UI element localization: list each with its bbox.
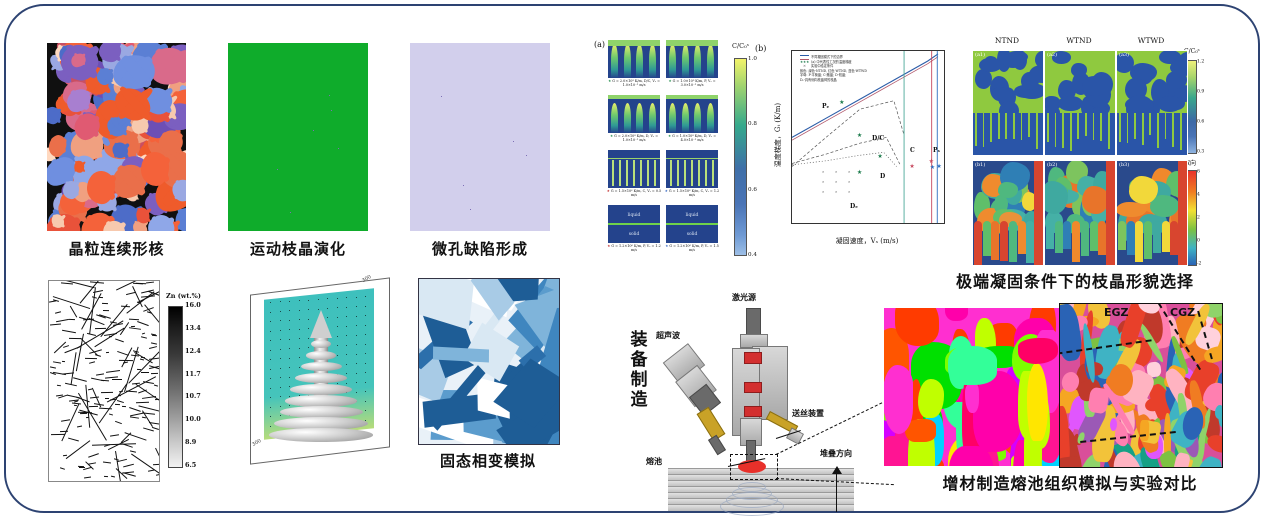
columnar-finger [998, 113, 1000, 139]
ebsd-grain [1214, 404, 1223, 419]
vector-dot [356, 316, 357, 317]
vector-dot [346, 297, 347, 298]
side-branch [57, 385, 61, 386]
vector-dot [289, 320, 290, 321]
simulation-grid: NTND WTND WTWD C/C₀ˢ 取向 (a1)(a2)(a3)(b1)… [972, 48, 1194, 268]
sim-cell-tag-4: (b2) [1047, 162, 1057, 168]
vector-dot [346, 345, 347, 346]
laser-deposition-diagram: 激光源超声波送丝装置熔池堆叠方向 [620, 290, 910, 490]
side-branch [109, 335, 112, 336]
data-point-ntnd-3: ★ [857, 170, 862, 176]
plot-curves [792, 51, 944, 223]
columnar-grain [1162, 221, 1170, 252]
vector-dot [308, 347, 309, 348]
side-branch [122, 406, 126, 407]
micropore-speck [470, 209, 471, 210]
vector-dot [365, 296, 366, 297]
dendrite-finger [636, 103, 643, 133]
micropore-speck [513, 141, 514, 142]
vector-dot [299, 357, 300, 358]
side-branch [84, 477, 91, 479]
caption-dendrite-selection: 极端凝固条件下的枝晶形貌选择 [900, 268, 1250, 292]
vector-dot [289, 329, 290, 330]
vector-dot [346, 326, 347, 327]
dendrite-finger [694, 103, 701, 133]
side-branch [152, 426, 159, 429]
dendrite-finger [611, 103, 618, 133]
dendrite-boundary [66, 440, 91, 459]
side-branch [141, 372, 149, 373]
vector-dot [280, 301, 281, 302]
vector-dot [356, 325, 357, 326]
vector-dot [346, 354, 347, 355]
ultrasonic-ripple [720, 497, 784, 516]
vector-dot [365, 363, 366, 364]
vector-dot [299, 319, 300, 320]
vector-dot [280, 377, 281, 378]
cell-stripe [626, 160, 628, 186]
phase-field-tile-2 [608, 95, 660, 133]
phase-label-solid: solid [666, 232, 718, 237]
side-branch [141, 336, 147, 338]
sim-cell-a2: (a2) [1044, 50, 1116, 156]
micropore-speck [329, 95, 330, 96]
columnar-grain [1153, 221, 1161, 253]
vector-dot [346, 383, 347, 384]
side-branch [50, 323, 61, 325]
cell-stripe [684, 160, 686, 186]
experiment-marker: × [822, 169, 824, 174]
dendrite-finger [707, 44, 714, 78]
side-branch [131, 354, 139, 356]
vector-dot [365, 306, 366, 307]
series-constitutional-undercooling-boundary [792, 101, 904, 167]
panel-b: (b) 不同凝固模式下的边界★★★(a) 中代表性工况的温度梯度×实验中给定条件… [755, 40, 970, 265]
grain-cell [1158, 96, 1182, 112]
side-branch [112, 379, 122, 380]
edge-grain [1034, 161, 1043, 265]
zone-label-2: C [910, 147, 915, 154]
conc-tick-3: 0.3 [1197, 150, 1204, 155]
label-laser-source: 激光源 [732, 292, 756, 303]
zone-label-5: Dₑ [850, 203, 858, 210]
tile-marker-icon: ★ [607, 189, 611, 193]
side-branch [129, 328, 141, 330]
micropore-speck [331, 110, 332, 111]
experiment-marker: × [848, 189, 850, 194]
conc-tick-0: 1.2 [1197, 60, 1204, 65]
zn-colorbar-title: Zn (wt.%) [166, 292, 201, 300]
ebsd-grain [884, 365, 913, 434]
column-header-wtnd: WTND [1044, 36, 1114, 45]
side-branch [102, 461, 110, 463]
side-branch [140, 359, 144, 361]
sim-cell-b1: (b1) [972, 160, 1044, 266]
dendrite-boundary [70, 306, 77, 318]
side-branch [88, 462, 96, 464]
grain-cell [1071, 63, 1086, 77]
dendrite-finger [682, 103, 689, 133]
vector-dot [356, 354, 357, 355]
vector-dot [289, 358, 290, 359]
side-branch [115, 404, 120, 405]
ebsd-grain [948, 346, 997, 386]
label-stacking-direction: 堆叠方向 [820, 448, 852, 459]
columnar-finger [1047, 113, 1049, 142]
tile-marker-icon: ★ [668, 79, 672, 83]
vector-dot [365, 325, 366, 326]
side-branch [105, 398, 109, 399]
side-branch [154, 385, 158, 387]
vector-dot [289, 367, 290, 368]
columnar-grain [1026, 221, 1034, 263]
side-branch [104, 475, 108, 476]
vector-dot [337, 345, 338, 346]
vector-dot [365, 334, 366, 335]
dendrite-finger [669, 44, 676, 78]
tile-marker-icon: ★ [668, 134, 672, 138]
side-branch [80, 413, 87, 414]
vector-dot [337, 298, 338, 299]
columnar-finger [990, 113, 992, 142]
vector-dot [289, 377, 290, 378]
ori-tick-0: 6 [1197, 170, 1200, 175]
cell-stripe [619, 160, 621, 186]
columnar-grain [1046, 221, 1054, 249]
top-band [608, 40, 660, 46]
dendrite-tier [295, 373, 347, 383]
ebsd-simulation-map [884, 308, 1059, 466]
tile-caption-2: ★ G = 2.0×10⁸ K/m, D, Vₛ = 1.0×10⁻² m/s [606, 134, 662, 142]
side-branch [96, 374, 104, 376]
side-branch [88, 389, 92, 391]
side-branch [151, 373, 158, 374]
side-branch [110, 434, 119, 436]
vector-dot [356, 297, 357, 298]
dendrite-motion-image [228, 43, 368, 231]
columnar-grain [1090, 221, 1098, 251]
side-branch [62, 361, 65, 362]
data-point-wtwd-6: ★ [930, 165, 935, 171]
columnar-finger [1070, 113, 1072, 151]
vector-dot [289, 405, 290, 406]
column-header-wtwd: WTWD [1116, 36, 1186, 45]
vector-dot [365, 401, 366, 402]
phase-label-liquid: liquid [608, 213, 660, 218]
grain-cell [1082, 76, 1108, 96]
caption-dendrite-motion: 运动枝晶演化 [228, 238, 368, 259]
side-branch [53, 362, 61, 364]
dendrite-boundary [99, 383, 128, 423]
vector-dot [299, 329, 300, 330]
vector-dot [327, 308, 328, 309]
caption-grain-nucleation: 晶粒连续形核 [47, 238, 186, 259]
tile-caption-3: ★ G = 1.0×10⁸ K/m, D, Vₛ = 4.0×10⁻² m/s [664, 134, 720, 142]
vector-dot [289, 301, 290, 302]
column-header-ntnd: NTND [972, 36, 1042, 45]
side-branch [142, 417, 146, 419]
side-branch [99, 408, 112, 409]
x-axis-label: 凝固速度，Vₛ (m/s) [791, 236, 943, 246]
ebsd-experiment-map: EGZCGZ [1059, 303, 1223, 468]
side-branch [79, 467, 85, 468]
vector-dot [365, 382, 366, 383]
vector-dot [365, 372, 366, 373]
side-branch [103, 310, 109, 311]
vector-dot [299, 367, 300, 368]
dendrite-boundary [121, 348, 132, 368]
vector-dot [308, 328, 309, 329]
vector-dot [280, 358, 281, 359]
data-point-wtnd-4: ★ [909, 164, 914, 170]
panel-a: (a) C/C₀ˢ ★ G = 2.0×10⁹ K/m, D/C, Vₛ = 1… [608, 40, 728, 262]
grain-cell [1002, 53, 1024, 68]
micropore-speck [277, 169, 278, 170]
side-branch [51, 434, 65, 435]
zn-tick-0: 16.0 [185, 301, 201, 309]
ebsd-grain [1140, 420, 1150, 441]
vector-dot [337, 326, 338, 327]
vector-dot [337, 317, 338, 318]
vector-dot [270, 416, 271, 417]
side-branch [50, 367, 56, 369]
cell-stripe [712, 160, 714, 186]
columnar-finger [1172, 113, 1174, 147]
columnar-finger [1134, 113, 1136, 139]
y-axis-label: 温度梯度，Gₜ (K/m) [773, 70, 783, 200]
solid-phase-transformation-image [418, 278, 560, 445]
micropore-speck [463, 185, 464, 186]
vector-dot [280, 368, 281, 369]
columnar-grain [1009, 221, 1017, 262]
solidification-map-plot: 不同凝固模式下的边界★★★(a) 中代表性工况的温度梯度×实验中给定条件颜色: … [791, 50, 945, 224]
grain-cell [1021, 72, 1040, 90]
label-melt-pool: 熔池 [646, 456, 662, 467]
columnar-finger [1100, 113, 1102, 141]
side-branch [129, 416, 138, 418]
side-branch [153, 464, 159, 465]
phase-field-tile-0 [608, 40, 660, 78]
vector-dot [280, 320, 281, 321]
side-branch [106, 352, 109, 353]
vector-dot [289, 348, 290, 349]
vector-dot [299, 338, 300, 339]
columnar-finger [1165, 113, 1167, 139]
zone-label-1: D/C [872, 135, 884, 142]
conc-tick-2: 0.6 [1197, 120, 1204, 125]
vector-dot [318, 299, 319, 300]
ultrasonic-horn [697, 407, 726, 442]
edge-grain [1178, 161, 1187, 265]
side-branch [89, 406, 98, 407]
ultrasonic-tip [708, 435, 726, 456]
tile-caption-4: ★ G = 1.5×10⁶ K/m, C, Vₛ = 0.5 m/s [606, 189, 662, 197]
caption-micropore-defect: 微孔缺陷形成 [410, 238, 550, 259]
ebsd-grain [945, 308, 968, 321]
columnar-finger [1005, 113, 1007, 139]
grain-cell [1035, 51, 1044, 68]
side-branch [136, 402, 149, 403]
ebsd-zone-label-cgz: CGZ [1170, 306, 1195, 319]
caption-solid-phase-transformation: 固态相变模拟 [408, 450, 568, 471]
dendrite-finger [707, 103, 714, 133]
micropore-speck [441, 96, 442, 97]
vector-dot [356, 363, 357, 364]
columnar-finger [1149, 113, 1151, 135]
vector-dot [337, 307, 338, 308]
vector-dot [299, 310, 300, 311]
side-branch [61, 282, 73, 284]
conc-tick-1: 0.9 [1197, 90, 1204, 95]
columnar-finger [975, 113, 977, 146]
ebsd-grain [918, 379, 944, 418]
side-branch [101, 392, 113, 393]
vector-dot [270, 302, 271, 303]
ori-tick-2: 2 [1197, 216, 1200, 221]
cell-stripe [705, 160, 707, 186]
side-branch [126, 292, 136, 295]
side-branch [60, 467, 65, 469]
vector-dot [365, 315, 366, 316]
zone-label-4: D [880, 173, 885, 180]
side-branch [117, 459, 127, 462]
columnar-grain [1144, 221, 1152, 259]
oriented-grain [998, 182, 1018, 197]
columnar-finger [1119, 113, 1121, 142]
phase-field-tile-7: liquidsolid [666, 205, 718, 243]
vector-dot [327, 298, 328, 299]
grain-nucleation-image [47, 43, 186, 231]
columnar-finger [1180, 113, 1182, 150]
side-branch [156, 473, 160, 475]
side-branch [146, 282, 154, 284]
columnar-grain [1000, 221, 1008, 261]
vector-dot [365, 391, 366, 392]
columnar-finger [1127, 113, 1129, 143]
vector-dot [346, 307, 347, 308]
sim-cell-tag-5: (b3) [1119, 162, 1129, 168]
tile-marker-icon: ★ [665, 244, 669, 248]
side-branch [88, 453, 98, 457]
columnar-finger [1028, 113, 1030, 137]
columnar-finger [1036, 113, 1038, 149]
interface-line [608, 158, 660, 159]
dendrite-boundary [61, 404, 79, 441]
cell-stripe [633, 160, 635, 186]
side-branch [90, 282, 104, 284]
cell-stripe [654, 160, 656, 186]
columnar-grain [1135, 221, 1143, 262]
edge-grain [1106, 161, 1115, 265]
columnar-grain [983, 221, 991, 256]
experiment-marker: × [835, 189, 837, 194]
zn-concentration-map [48, 280, 160, 482]
side-branch [123, 464, 134, 468]
data-point-wtwd-7: ★ [936, 164, 941, 170]
vector-dot [270, 426, 271, 427]
zn-tick-4: 10.7 [185, 392, 201, 400]
side-branch [55, 311, 61, 313]
vector-dot [270, 321, 271, 322]
label-ultrasonic: 超声波 [656, 330, 680, 341]
dendrite-tier [306, 351, 337, 360]
side-branch [69, 338, 81, 339]
laser-beam-tube [746, 308, 761, 336]
micropore-speck [338, 148, 339, 149]
micropore-speck [290, 212, 291, 213]
panel-b-tag: (b) [755, 44, 766, 53]
vector-dot [270, 350, 271, 351]
side-branch [99, 297, 103, 298]
side-branch [102, 303, 108, 304]
dendrite-tier [285, 395, 358, 407]
vector-dot [270, 312, 271, 313]
side-branch [115, 421, 122, 424]
cell-stripe [612, 160, 614, 186]
columnar-finger [1013, 113, 1015, 139]
side-branch [89, 361, 95, 363]
zn-tick-3: 11.7 [185, 370, 201, 378]
columnar-finger [1093, 113, 1095, 140]
vector-dot [308, 309, 309, 310]
side-branch [149, 346, 157, 349]
dendrite-boundary [81, 294, 101, 330]
dendrite-finger [636, 44, 643, 78]
vector-dot [280, 330, 281, 331]
vector-dot [299, 348, 300, 349]
panel-a-colorbar-title: C/C₀ˢ [732, 42, 749, 50]
columnar-grain [1098, 221, 1106, 255]
columnar-finger [983, 113, 985, 147]
side-branch [123, 361, 128, 363]
3d-dendrite-render: 300300 [240, 272, 405, 482]
sim-cell-a1: (a1) [972, 50, 1044, 156]
dendrite-finger [624, 44, 631, 78]
vector-dot [308, 338, 309, 339]
side-branch [73, 377, 86, 381]
phase-field-tile-1 [666, 40, 718, 78]
vector-dot [299, 300, 300, 301]
columnar-grain [1081, 221, 1089, 256]
sim-cell-b3: (b3) [1116, 160, 1188, 266]
dendrite-tier [269, 428, 373, 442]
columnar-finger [1108, 113, 1110, 149]
cell-stripe [698, 160, 700, 186]
tile-caption-0: ★ G = 2.0×10⁹ K/m, D/C, Vₛ = 1.0×10⁻² m/… [606, 79, 662, 87]
vector-dot [346, 373, 347, 374]
experiment-marker: × [848, 179, 850, 184]
laser-indicator-top [744, 352, 762, 364]
ori-tick-1: 4 [1197, 193, 1200, 198]
sim-cell-a3: (a3) [1116, 50, 1188, 156]
ori-tick-4: -2 [1197, 262, 1201, 267]
vector-dot [365, 344, 366, 345]
zn-tick-6: 8.9 [185, 438, 196, 446]
columnar-grain [1018, 221, 1026, 254]
side-branch [129, 319, 139, 320]
experiment-marker: × [822, 179, 824, 184]
side-branch [63, 346, 69, 349]
side-branch [68, 438, 78, 442]
phase-field-tile-4 [608, 150, 660, 188]
vector-dot [270, 397, 271, 398]
side-branch [129, 407, 141, 412]
vector-dot [346, 364, 347, 365]
phase-field-tile-3 [666, 95, 718, 133]
zn-colorbar: Zn (wt.%) 16.013.412.411.710.710.08.96.5 [168, 292, 234, 477]
vector-dot [280, 406, 281, 407]
dendrite-finger [694, 44, 701, 78]
